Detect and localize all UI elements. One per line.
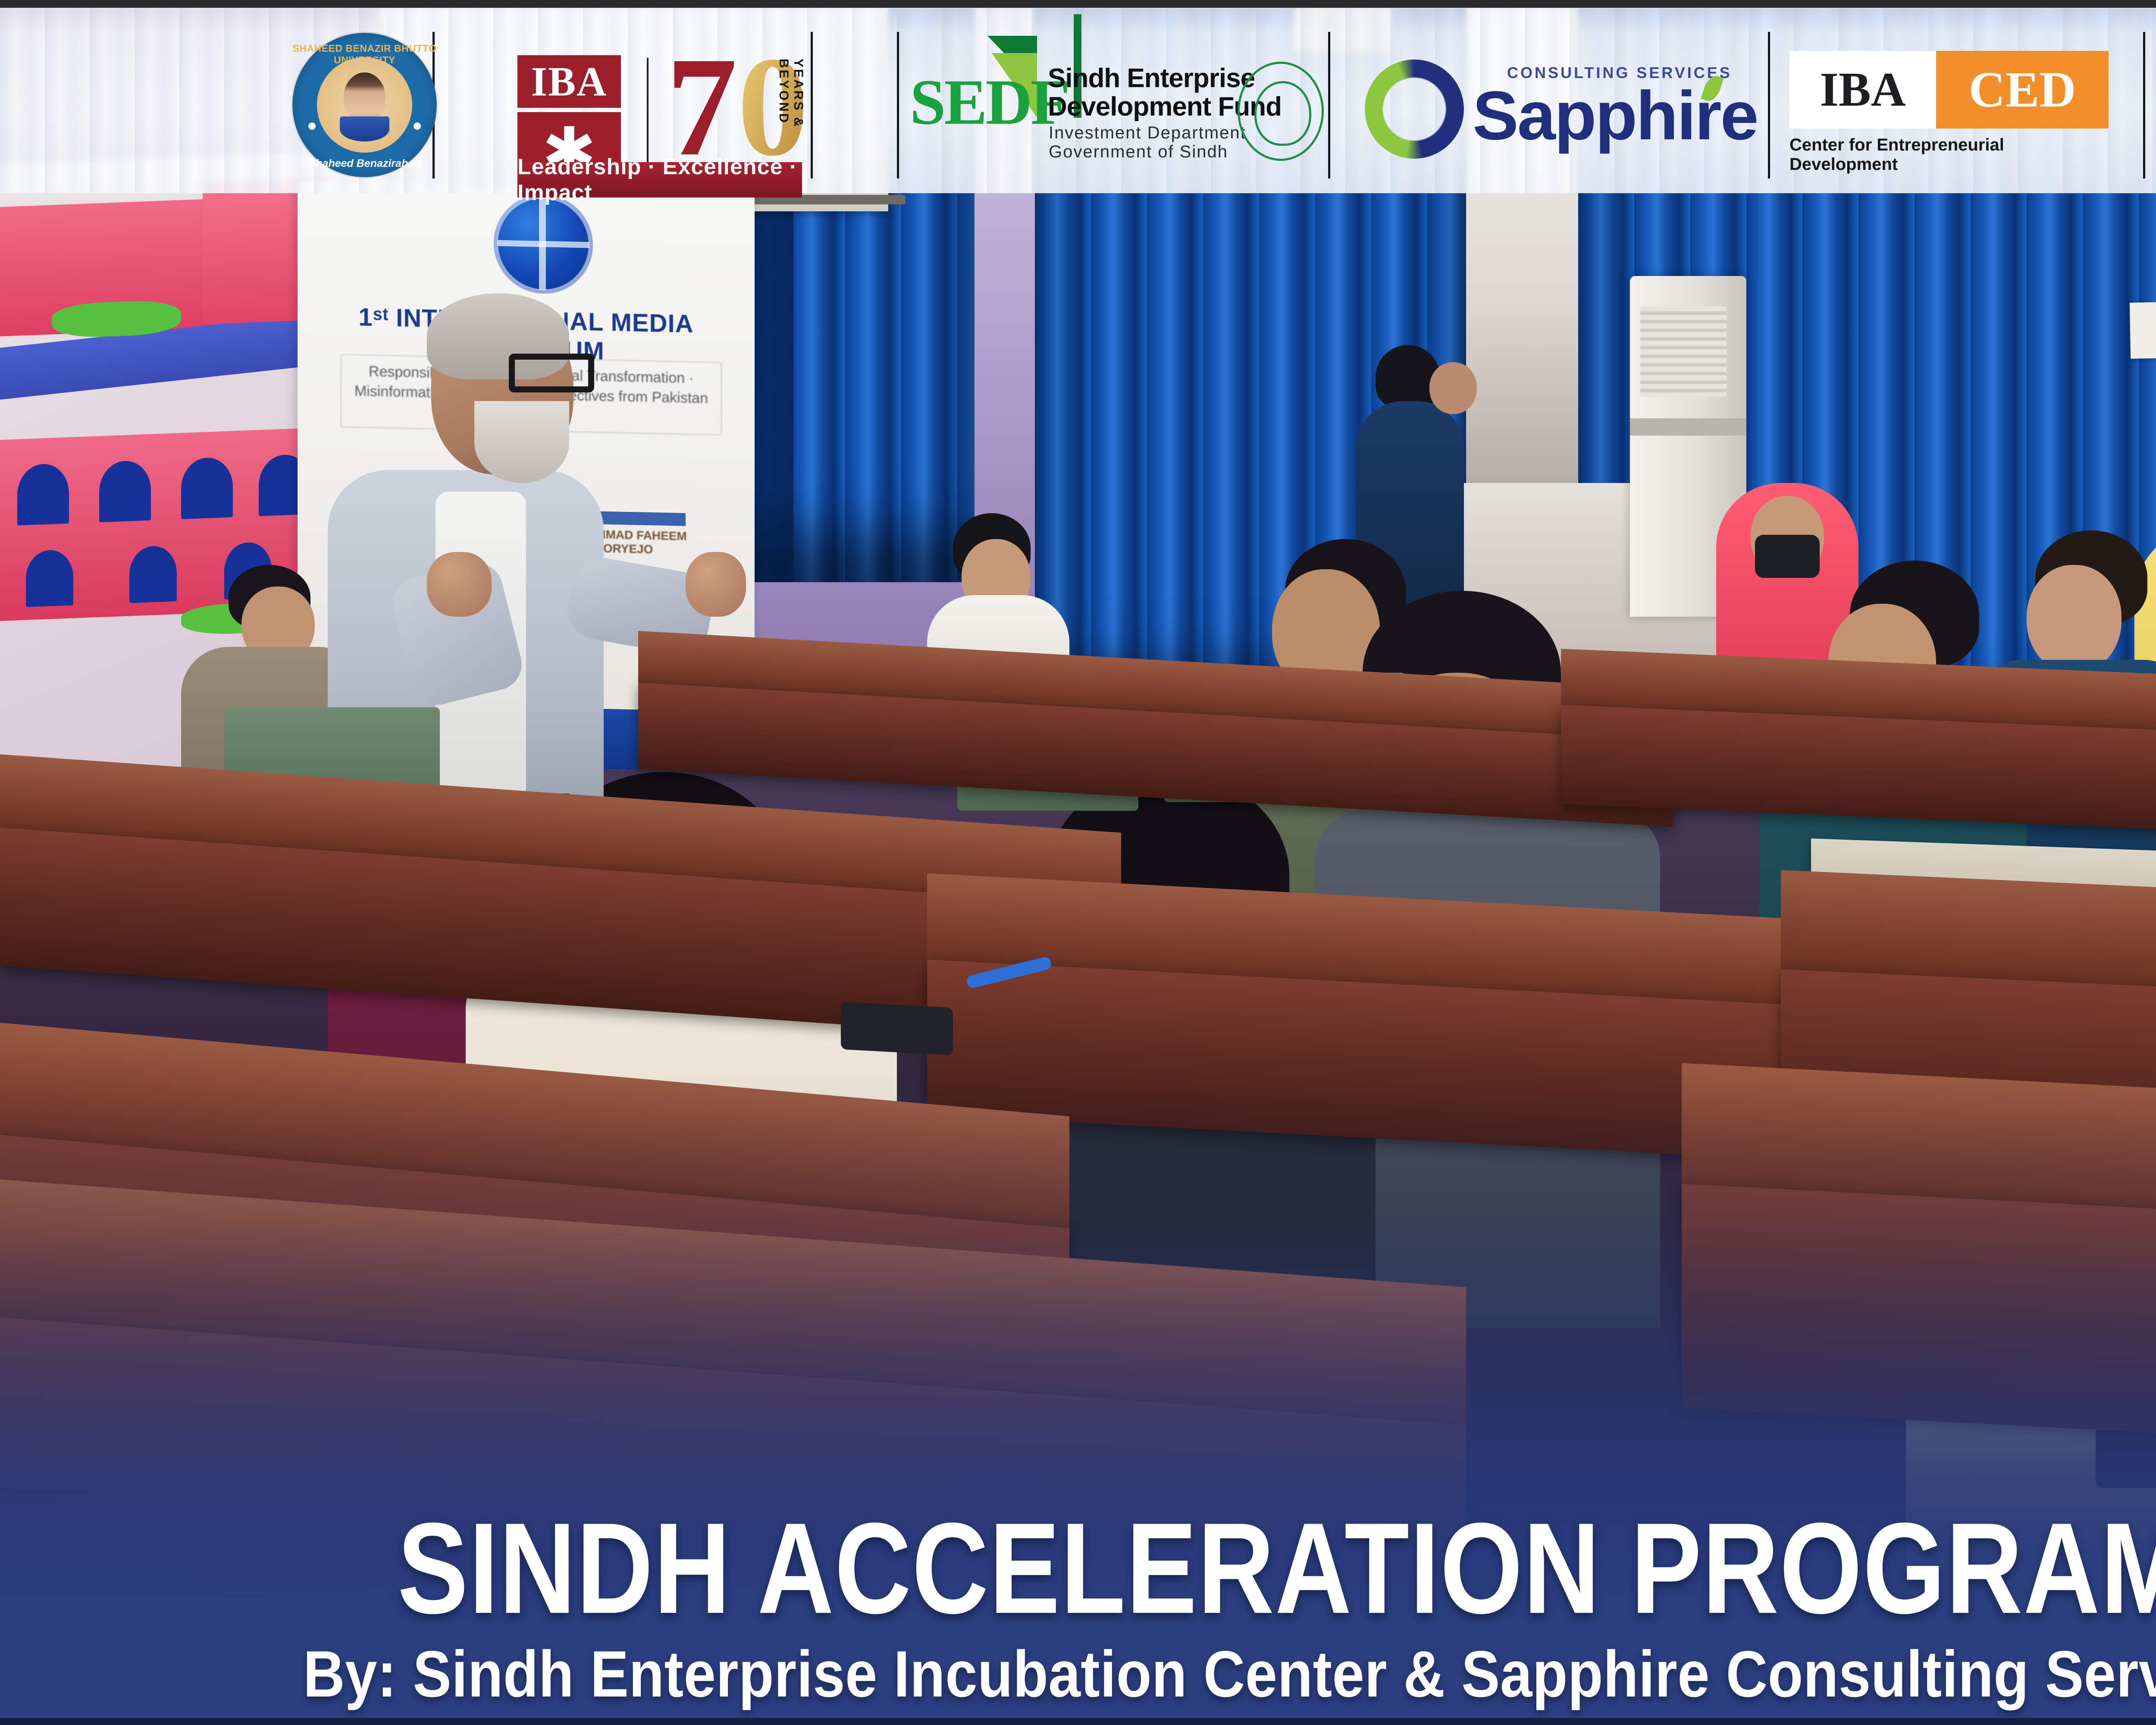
sedf-line-3: Investment Department xyxy=(1049,123,1246,143)
top-edge-bar xyxy=(0,0,2156,8)
seal-book-icon xyxy=(340,116,389,141)
sindh-government-crest-icon xyxy=(1238,62,1324,161)
logo-iba-ced[interactable]: IBA CED Center for Entrepreneurial Devel… xyxy=(1789,51,2117,163)
event-photograph: 1ˢᵗ INTERNATIONAL MEDIA SYMPOSIUM Respon… xyxy=(0,0,2156,1725)
speaker-beard xyxy=(474,401,569,483)
wall-notice xyxy=(2130,301,2156,359)
seal-dot xyxy=(308,122,316,130)
seal-label-bottom: Shaheed Benazirabad xyxy=(292,157,437,170)
seal-disc: SHAHEED BENAZIR BHUTTO UNIVERSITY Shahee… xyxy=(292,33,437,177)
logo-sbbu-seal[interactable]: SHAHEED BENAZIR BHUTTO UNIVERSITY Shahee… xyxy=(292,33,437,177)
speaker-right-hand xyxy=(686,552,746,617)
logo-divider xyxy=(811,32,813,179)
logo-divider xyxy=(2143,32,2145,179)
sponsor-logo-band: SHAHEED BENAZIR BHUTTO UNIVERSITY Shahee… xyxy=(0,8,2156,193)
ced-box: IBA CED xyxy=(1789,51,2109,129)
logo-divider xyxy=(897,32,899,179)
arch xyxy=(26,549,73,607)
caption-block: SINDH ACCELERATION PROGRAM By: Sindh Ent… xyxy=(0,1504,2156,1709)
logo-divider xyxy=(1328,32,1330,179)
iba-wordmark-box: IBA xyxy=(517,55,621,108)
iba-tagline: Leadership · Excellence · Impact xyxy=(517,162,802,198)
ced-ced-label: CED xyxy=(1936,51,2109,129)
speaker-left-hand xyxy=(427,552,492,617)
arch xyxy=(129,545,177,603)
program-title: SINDH ACCELERATION PROGRAM xyxy=(233,1504,2156,1632)
sapphire-ring-icon xyxy=(1365,60,1464,159)
phone-on-desk xyxy=(841,1002,953,1055)
sedf-acronym: SEDF xyxy=(910,65,1068,139)
ac-vent xyxy=(1640,306,1727,397)
speaker-glasses xyxy=(509,354,594,392)
ac-band xyxy=(1630,418,1746,436)
sedf-line-1: Sindh Enterprise xyxy=(1048,64,1255,93)
seal-portrait xyxy=(344,72,385,122)
logo-divider xyxy=(1768,32,1770,179)
ced-subtitle: Center for Entrepreneurial Development xyxy=(1789,135,2117,174)
ced-iba-label: IBA xyxy=(1789,51,1936,129)
poster-root: 1ˢᵗ INTERNATIONAL MEDIA SYMPOSIUM Respon… xyxy=(0,0,2156,1725)
program-subtitle: By: Sindh Enterprise Incubation Center &… xyxy=(155,1640,2156,1709)
globe-icon xyxy=(494,193,593,295)
bottom-edge-bar xyxy=(0,1718,2156,1725)
logo-iba-70[interactable]: IBA ✱ 70 YEARS & BEYOND Leadership · Exc… xyxy=(517,55,802,198)
sedf-line-4: Government of Sindh xyxy=(1049,142,1228,162)
seal-inner-disc xyxy=(317,57,412,153)
iba-wordmark: IBA xyxy=(517,58,621,106)
seal-dot xyxy=(414,122,421,130)
logo-sapphire[interactable]: CONSULTING SERVICES Sapphire xyxy=(1365,60,1740,159)
logo-sedf[interactable]: SEDF Sindh Enterprise Development Fund I… xyxy=(910,57,1311,157)
